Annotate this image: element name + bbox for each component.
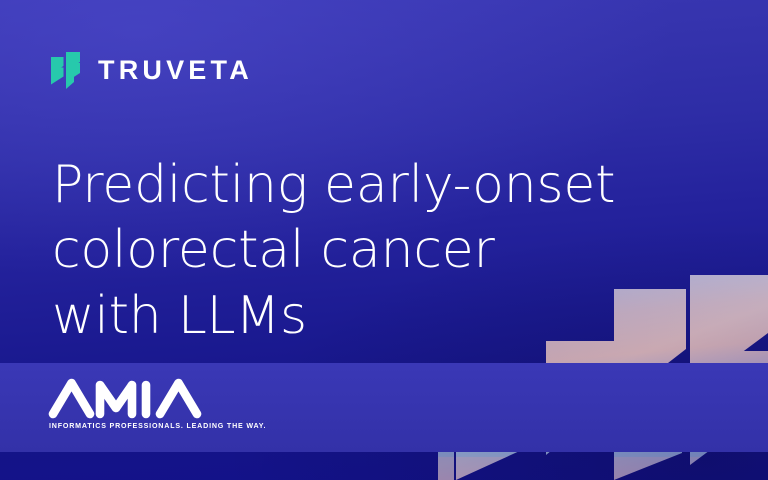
amia-peaks-wordmark-icon — [48, 375, 220, 419]
amia-logo-lockup: INFORMATICS PROFESSIONALS. LEADING THE W… — [0, 363, 460, 452]
truveta-chevron-mark-icon — [50, 50, 82, 90]
headline-line-3: with LLMs — [52, 284, 692, 350]
headline-line-1: Predicting early-onset — [52, 153, 692, 219]
truveta-brand-lockup: TRUVETA — [50, 50, 253, 90]
headline-line-2: colorectal cancer — [52, 218, 692, 284]
truveta-wordmark: TRUVETA — [98, 57, 253, 84]
title-slide: INFORMATICS PROFESSIONALS. LEADING THE W… — [0, 0, 768, 480]
amia-tagline: INFORMATICS PROFESSIONALS. LEADING THE W… — [49, 422, 266, 430]
slide-headline: Predicting early-onset colorectal cancer… — [52, 153, 692, 350]
amia-footer-band: INFORMATICS PROFESSIONALS. LEADING THE W… — [0, 363, 768, 452]
